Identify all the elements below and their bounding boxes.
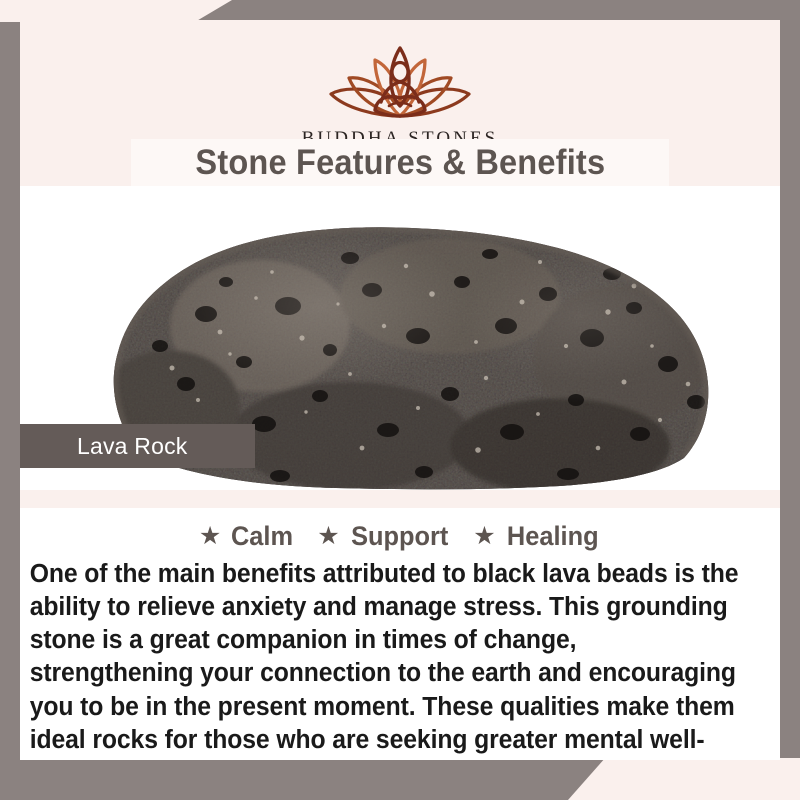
benefit-item-support: ★ Support <box>317 521 451 552</box>
stone-name-bar: Lava Rock <box>20 424 255 468</box>
benefit-label: Support <box>351 521 448 552</box>
benefit-label: Calm <box>231 521 293 552</box>
benefit-item-healing: ★ Healing <box>473 521 601 552</box>
lotus-meditation-icon <box>315 32 485 126</box>
benefits-row: ★ Calm ★ Support ★ Healing <box>20 508 780 554</box>
star-icon: ★ <box>199 524 221 549</box>
brand-logo: BUDDHA STONES <box>302 32 499 150</box>
description-text: One of the main benefits attributed to b… <box>20 554 757 760</box>
frame-corner-bottom-right <box>568 758 800 800</box>
stone-name-label: Lava Rock <box>77 433 187 460</box>
star-icon: ★ <box>473 524 495 549</box>
benefit-label: Healing <box>507 521 599 552</box>
frame-corner-top-left <box>0 0 232 22</box>
info-card: BUDDHA STONES Stone Features & Benefits <box>20 20 780 760</box>
page-title: Stone Features & Benefits <box>195 143 605 183</box>
card-header: BUDDHA STONES Stone Features & Benefits <box>20 20 780 186</box>
star-icon: ★ <box>317 524 339 549</box>
stone-photo: Lava Rock <box>20 186 780 490</box>
benefit-item-calm: ★ Calm <box>199 521 295 552</box>
title-plate: Stone Features & Benefits <box>131 139 669 186</box>
section-divider <box>20 490 780 508</box>
